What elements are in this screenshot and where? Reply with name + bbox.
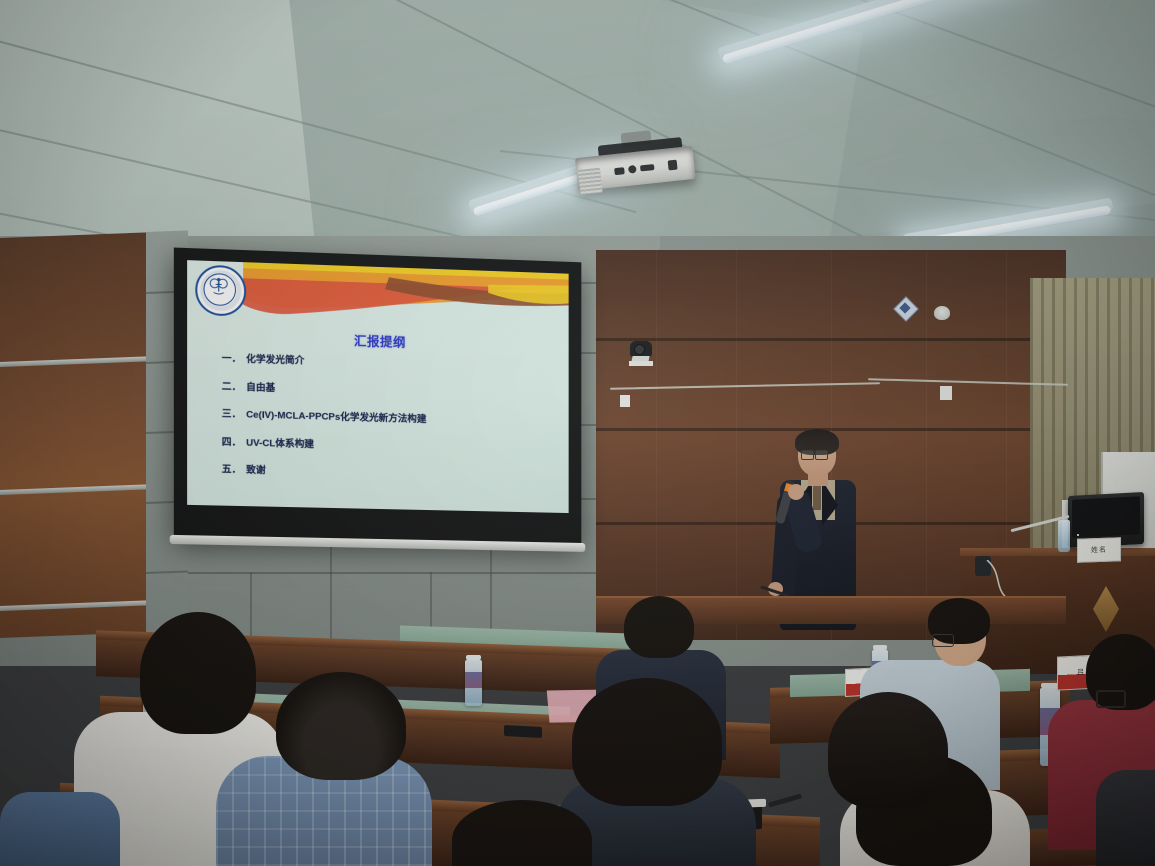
outline-text: 化学发光简介 xyxy=(246,351,304,367)
university-emblem xyxy=(195,264,246,316)
wall-cable-clip xyxy=(620,395,630,407)
outline-text: UV-CL体系构建 xyxy=(246,434,314,450)
presenter-hand xyxy=(788,484,804,500)
projector-port xyxy=(614,167,625,175)
audience-person-hair xyxy=(276,672,406,780)
projector-lens-port xyxy=(628,165,637,174)
cabinet-trim-strip xyxy=(0,600,148,611)
outline-text: 自由基 xyxy=(246,379,275,394)
projector-vent xyxy=(578,168,602,195)
wall-cable-clip xyxy=(940,386,952,400)
projector-port xyxy=(668,160,678,171)
audience-glasses-icon xyxy=(1096,690,1126,708)
ptz-camera xyxy=(628,341,654,365)
audience-glasses-icon xyxy=(932,634,954,647)
outline-text: Ce(IV)-MCLA-PPCPs化学发光新方法构建 xyxy=(246,406,426,425)
audience-person-hair xyxy=(828,692,948,808)
panel-seam xyxy=(146,571,188,574)
audience-person-body xyxy=(1096,770,1155,866)
presenter-glasses-icon xyxy=(801,450,814,460)
camera-lens-icon xyxy=(634,344,645,355)
camera-bracket xyxy=(629,361,653,366)
projection-screen: 汇报提纲 一． 化学发光简介 二． 自由基 三． Ce(IV)-MCLA-PPC… xyxy=(174,248,581,544)
outline-number: 四． xyxy=(222,433,246,448)
smartphone xyxy=(504,725,542,738)
podium-name-card: 姓名 xyxy=(1077,537,1121,563)
cabinet-trim-strip xyxy=(0,484,148,495)
presenter-tie xyxy=(813,482,821,510)
bottle-cap xyxy=(873,645,887,650)
slide-outline-item: 五． 致谢 xyxy=(222,461,551,483)
podium-name-card-text: 姓名 xyxy=(1091,545,1107,556)
water-bottle xyxy=(465,660,482,706)
smoke-detector-icon xyxy=(934,306,950,320)
wood-grain xyxy=(736,250,737,640)
wood-grain xyxy=(926,250,927,640)
outline-text: 致谢 xyxy=(246,462,265,477)
slide-outline-item: 二． 自由基 xyxy=(222,378,551,401)
projected-slide: 汇报提纲 一． 化学发光简介 二． 自由基 三． Ce(IV)-MCLA-PPC… xyxy=(187,260,569,513)
lecture-hall-photo: 汇报提纲 一． 化学发光简介 二． 自由基 三． Ce(IV)-MCLA-PPC… xyxy=(0,0,1155,866)
monitor-screen[interactable] xyxy=(1072,496,1140,538)
outline-number: 一． xyxy=(222,350,246,365)
bottle-cap xyxy=(466,655,481,660)
slide-outline-list: 一． 化学发光简介 二． 自由基 三． Ce(IV)-MCLA-PPCPs化学发… xyxy=(222,350,551,496)
audience-person-body xyxy=(0,792,120,866)
name-card xyxy=(1077,534,1079,536)
emblem-tree-figure-icon xyxy=(209,276,229,299)
projector-port xyxy=(640,164,655,171)
water-bottle xyxy=(1058,520,1070,552)
audience-person-hair xyxy=(624,596,694,658)
audience-person-hair xyxy=(140,612,256,734)
outline-number: 三． xyxy=(222,406,246,421)
slide-outline-item: 三． Ce(IV)-MCLA-PPCPs化学发光新方法构建 xyxy=(222,406,551,429)
left-wood-cabinet-wall xyxy=(0,232,148,638)
wood-grain xyxy=(656,250,657,640)
audience-person-hair xyxy=(572,678,722,806)
slide-outline-item: 四． UV-CL体系构建 xyxy=(222,433,551,455)
bottle-label xyxy=(465,672,482,688)
outline-number: 二． xyxy=(222,378,246,393)
cabinet-trim-strip xyxy=(0,356,148,367)
outline-number: 五． xyxy=(222,461,246,476)
pen xyxy=(768,793,802,807)
presenter-glasses-icon xyxy=(815,450,828,460)
